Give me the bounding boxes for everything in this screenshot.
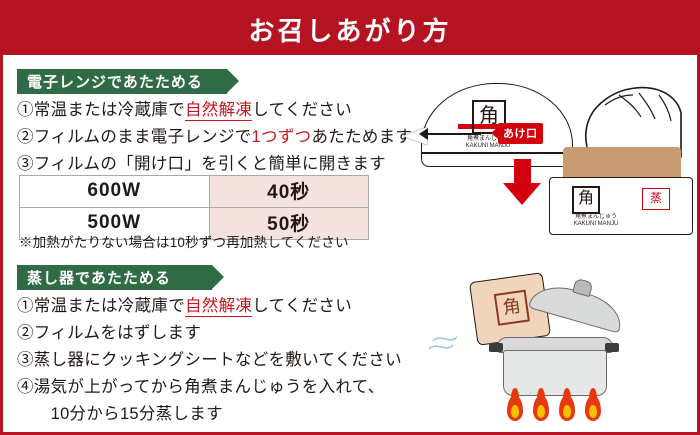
plate-stamp-icon: 角 [572, 186, 600, 214]
step-text-highlight: 1つずつ [252, 128, 312, 146]
flame-icon [533, 395, 549, 421]
step-text-post: してください [252, 297, 352, 315]
step-text-pre: ①常温または冷蔵庫で [17, 101, 185, 119]
pull-direction-arrow-icon [419, 128, 428, 140]
step-item: ②フィルムをはずします [17, 320, 402, 347]
page-title: お召しあがり方 [248, 11, 451, 48]
steps-list-steamer: ①常温または冷蔵庫で自然解凍してください ②フィルムをはずします ③蒸し器にクッ… [17, 293, 402, 428]
opening-tab-label: あけ口 [498, 123, 543, 144]
flame-icon [507, 395, 523, 421]
section-heading-microwave: 電子レンジであたためる [17, 69, 227, 94]
steps-list-microwave: ①常温または冷蔵庫で自然解凍してください ②フィルムのまま電子レンジで1つずつあ… [17, 97, 412, 178]
step-text-post: してください [252, 101, 352, 119]
step-text-pre: ④湯気が上がってから角煮まんじゅうを入れて、 [17, 378, 384, 396]
plate-white-tray: 角 蒸 角煮まんじゅう KAKUNI MANJU [549, 177, 693, 235]
step-text-pre: ②フィルムのまま電子レンジで [17, 128, 252, 146]
section-heading-steamer-label: 蒸し器であたためる [27, 267, 171, 288]
plated-product-illustration: 角 蒸 角煮まんじゅう KAKUNI MANJU [543, 147, 693, 252]
step-text-highlight: 自然解凍 [185, 101, 252, 121]
illustration-microwave: 角 角煮まんじゅう KAKUNI MANJU あけ口 角 蒸 [403, 81, 693, 256]
instruction-card: お召しあがり方 電子レンジであたためる ①常温または冷蔵庫で自然解凍してください… [0, 0, 700, 435]
table-row: 600W 40秒 [20, 176, 369, 208]
step-text-pre: 10分から15分蒸します [17, 405, 223, 423]
manju-stamp-icon: 角 [494, 290, 530, 326]
flame-icons [507, 395, 601, 425]
steam-icon [427, 331, 487, 353]
step-text-highlight: 自然解凍 [185, 297, 252, 317]
step-item: ③蒸し器にクッキングシートなどを敷いてください [17, 347, 402, 374]
step-item: ①常温または冷蔵庫で自然解凍してください [17, 293, 402, 320]
step-item: ③フィルムの「開け口」を引くと簡単に開きます [17, 151, 412, 178]
plate-small-text: 角煮まんじゅう KAKUNI MANJU [566, 214, 626, 228]
reheating-note: ※加熱がたりない場合は10秒ずつ再加熱してください [19, 231, 349, 251]
step-item: ②フィルムのまま電子レンジで1つずつあたためます [17, 124, 412, 151]
plate-red-mark-icon: 蒸 [642, 188, 670, 210]
flame-icon [585, 395, 601, 421]
table-cell-power: 600W [20, 176, 210, 208]
step-text-pre: ①常温または冷蔵庫で [17, 297, 185, 315]
pot-handle-right [605, 343, 619, 352]
steamer-pot-illustration [489, 337, 619, 401]
section-heading-steamer: 蒸し器であたためる [17, 265, 212, 290]
step-text-pre: ③フィルムの「開け口」を引くと簡単に開きます [17, 155, 386, 173]
page-title-bar: お召しあがり方 [3, 3, 697, 55]
flame-icon [559, 395, 575, 421]
table-cell-time: 40秒 [209, 176, 369, 208]
step-text-post: あたためます [311, 128, 412, 146]
next-step-arrow-icon [503, 159, 541, 205]
step-item: 10分から15分蒸します [17, 401, 402, 428]
illustration-steamer: 角 [403, 275, 693, 430]
step-item: ④湯気が上がってから角煮まんじゅうを入れて、 [17, 374, 402, 401]
pull-direction-line [423, 133, 481, 135]
pot-handle-left [489, 343, 503, 352]
step-text-pre: ③蒸し器にクッキングシートなどを敷いてください [17, 351, 402, 369]
section-heading-microwave-label: 電子レンジであたためる [27, 71, 203, 92]
step-text-pre: ②フィルムをはずします [17, 324, 201, 342]
step-item: ①常温または冷蔵庫で自然解凍してください [17, 97, 412, 124]
